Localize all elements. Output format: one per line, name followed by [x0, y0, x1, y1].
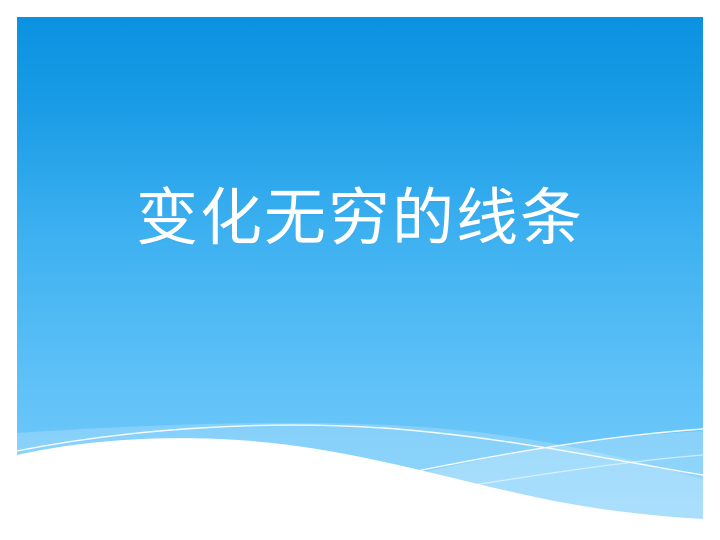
slide-root: 变化无穷的线条 — [0, 0, 720, 540]
slide-canvas: 变化无穷的线条 — [17, 17, 703, 523]
slide-background — [17, 17, 703, 523]
